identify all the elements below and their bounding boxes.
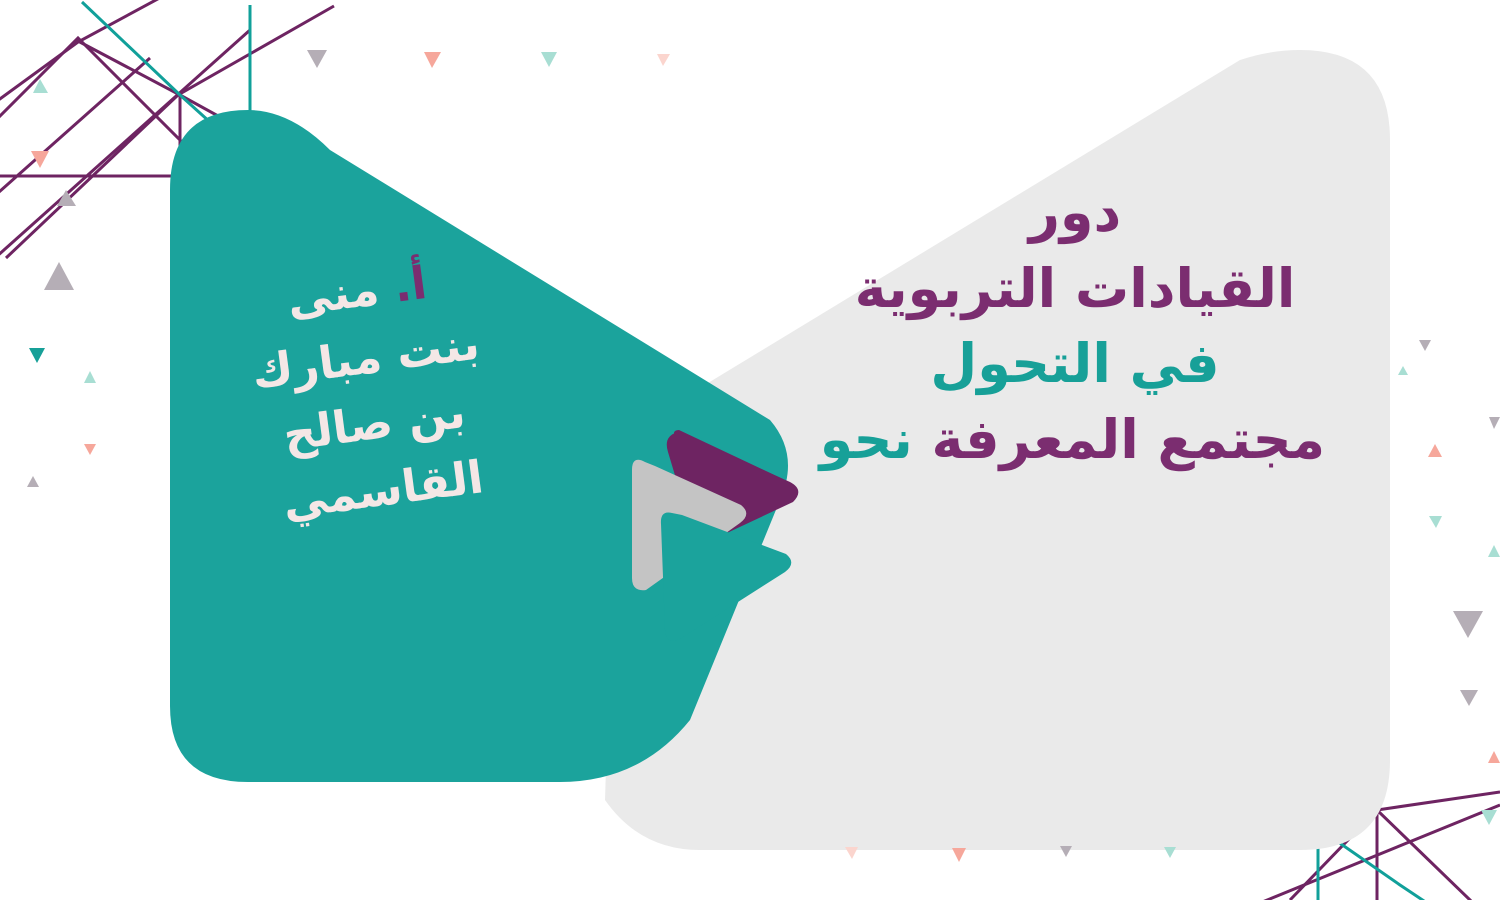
scatter-triangle — [1428, 444, 1442, 457]
scatter-triangle — [84, 371, 96, 383]
scatter-triangle — [31, 151, 49, 168]
scatter-triangle — [1419, 340, 1431, 351]
scatter-triangle — [1398, 366, 1408, 375]
scatter-triangle — [1453, 611, 1483, 638]
scatter-triangles — [0, 0, 1500, 900]
scatter-triangle — [1164, 847, 1176, 858]
scatter-triangle — [541, 52, 557, 67]
scatter-triangle — [1429, 516, 1442, 528]
scatter-triangle — [84, 444, 96, 455]
scatter-triangle — [57, 190, 76, 206]
scatter-triangle — [1488, 751, 1500, 763]
scatter-triangle — [27, 476, 39, 487]
scatter-triangle — [29, 348, 45, 363]
scatter-triangle — [952, 848, 966, 862]
scatter-triangle — [424, 52, 441, 68]
scatter-triangle — [307, 50, 327, 68]
scatter-triangle — [33, 79, 48, 93]
scatter-triangle — [1488, 545, 1500, 557]
scatter-triangle — [1460, 690, 1478, 706]
scatter-triangle — [657, 54, 670, 66]
scatter-triangle-group — [27, 50, 1500, 862]
scatter-triangle — [44, 262, 74, 290]
scatter-triangle — [845, 847, 858, 859]
scatter-triangle — [1060, 846, 1072, 857]
scatter-triangle — [1489, 417, 1500, 429]
slide-canvas: دور القيادات التربوية في التحول مجتمع ال… — [0, 0, 1500, 900]
scatter-triangle — [1481, 810, 1497, 825]
